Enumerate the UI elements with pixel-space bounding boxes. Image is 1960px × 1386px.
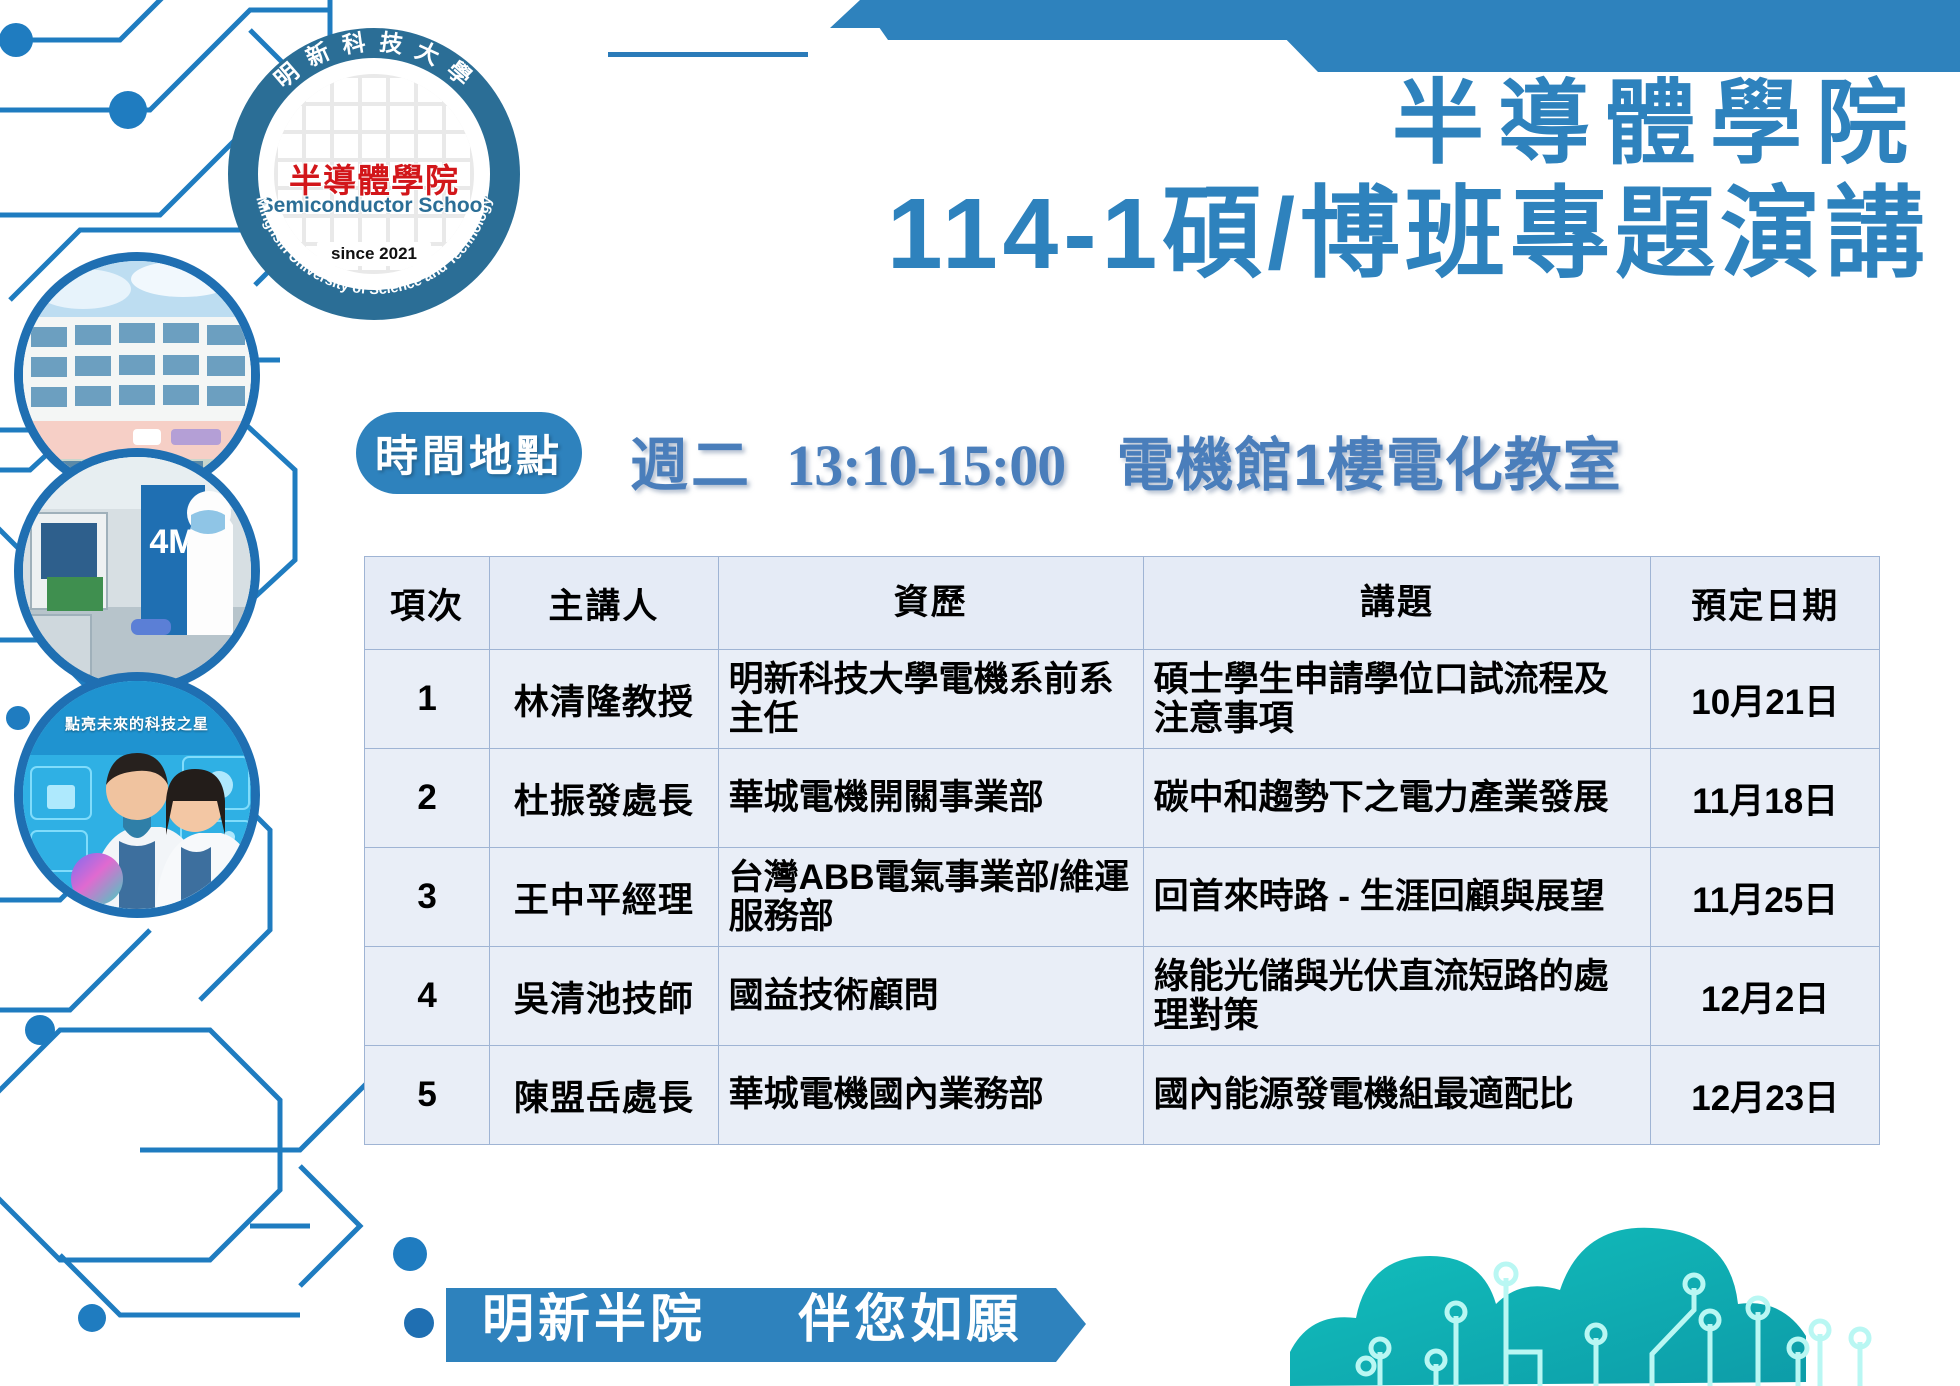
time-location-text: 週二 13:10-15:00 電機館1樓電化教室 bbox=[630, 418, 1622, 502]
cell-topic: 回首來時路 - 生涯回顧與展望 bbox=[1143, 848, 1651, 947]
students-promo-photo: 點亮未來的科技之星 bbox=[14, 672, 260, 918]
logo-arc-top-text: 明 新 科 技 大 學 bbox=[269, 29, 479, 93]
cell-index: 1 bbox=[365, 650, 490, 749]
footer-slogan: 明新半院 伴您如願 bbox=[482, 1277, 1022, 1352]
table-row: 5 陳盟岳處長 華城電機國內業務部 國內能源發電機組最適配比 12月23日 bbox=[365, 1046, 1880, 1145]
cell-date: 11月18日 bbox=[1651, 749, 1880, 848]
logo-arc-text: 明 新 科 技 大 學 Minghsin University of Scien… bbox=[228, 28, 520, 320]
cell-index: 2 bbox=[365, 749, 490, 848]
cleanroom-illustration: 4M bbox=[23, 457, 253, 687]
table-row: 1 林清隆教授 明新科技大學電機系前系主任 碩士學生申請學位口試流程及注意事項 … bbox=[365, 650, 1880, 749]
page-title-line2: 114-1碩/博班專題演講 bbox=[887, 184, 1930, 284]
cell-topic: 碳中和趨勢下之電力產業發展 bbox=[1143, 749, 1651, 848]
cleanroom-lab-image: 4M bbox=[23, 457, 251, 685]
cell-topic: 碩士學生申請學位口試流程及注意事項 bbox=[1143, 650, 1651, 749]
cell-date: 12月2日 bbox=[1651, 947, 1880, 1046]
col-header-speaker: 主講人 bbox=[490, 557, 719, 650]
table-row: 3 王中平經理 台灣ABB電氣事業部/維運服務部 回首來時路 - 生涯回顧與展望… bbox=[365, 848, 1880, 947]
schedule-day: 週二 bbox=[630, 433, 752, 498]
col-header-topic: 講題 bbox=[1143, 557, 1651, 650]
cell-speaker: 杜振發處長 bbox=[490, 749, 719, 848]
schedule-time: 13:10-15:00 bbox=[786, 433, 1065, 498]
school-logo: 半導體學院 Semiconductor School since 2021 明 … bbox=[228, 28, 520, 320]
table-row: 2 杜振發處長 華城電機開關事業部 碳中和趨勢下之電力產業發展 11月18日 bbox=[365, 749, 1880, 848]
cell-topic: 國內能源發電機組最適配比 bbox=[1143, 1046, 1651, 1145]
tech-cloud-decoration bbox=[1260, 1156, 1960, 1386]
logo-arc-bottom-text: Minghsin University of Science and Techn… bbox=[252, 195, 495, 298]
cell-speaker: 王中平經理 bbox=[490, 848, 719, 947]
cell-date: 12月23日 bbox=[1651, 1046, 1880, 1145]
col-header-bio: 資歷 bbox=[718, 557, 1143, 650]
cell-bio: 台灣ABB電氣事業部/維運服務部 bbox=[718, 848, 1143, 947]
cell-bio: 國益技術顧問 bbox=[718, 947, 1143, 1046]
footer-decoration-dot bbox=[404, 1308, 434, 1338]
cell-topic: 綠能光儲與光伏直流短路的處理對策 bbox=[1143, 947, 1651, 1046]
cleanroom-lab-photo: 4M bbox=[14, 448, 260, 694]
cell-speaker: 陳盟岳處長 bbox=[490, 1046, 719, 1145]
table-body: 1 林清隆教授 明新科技大學電機系前系主任 碩士學生申請學位口試流程及注意事項 … bbox=[365, 650, 1880, 1145]
col-header-date: 預定日期 bbox=[1651, 557, 1880, 650]
footer-slogan-left: 明新半院 bbox=[482, 1291, 706, 1349]
cell-bio: 華城電機國內業務部 bbox=[718, 1046, 1143, 1145]
footer-slogan-right: 伴您如願 bbox=[798, 1291, 1022, 1349]
cell-date: 11月25日 bbox=[1651, 848, 1880, 947]
lecture-schedule-table: 項次 主講人 資歷 講題 預定日期 1 林清隆教授 明新科技大學電機系前系主任 … bbox=[364, 556, 1880, 1145]
cell-speaker: 林清隆教授 bbox=[490, 650, 719, 749]
cell-index: 5 bbox=[365, 1046, 490, 1145]
cell-bio: 華城電機開關事業部 bbox=[718, 749, 1143, 848]
cell-date: 10月21日 bbox=[1651, 650, 1880, 749]
cell-speaker: 吳清池技師 bbox=[490, 947, 719, 1046]
col-header-index: 項次 bbox=[365, 557, 490, 650]
table-header-row: 項次 主講人 資歷 講題 預定日期 bbox=[365, 557, 1880, 650]
svg-text:明 新 科 技 大 學: 明 新 科 技 大 學 bbox=[269, 29, 479, 93]
cell-index: 3 bbox=[365, 848, 490, 947]
cell-index: 4 bbox=[365, 947, 490, 1046]
title-divider-line bbox=[608, 52, 808, 57]
cell-bio: 明新科技大學電機系前系主任 bbox=[718, 650, 1143, 749]
students-photo-caption: 點亮未來的科技之星 bbox=[23, 713, 251, 734]
table-row: 4 吳清池技師 國益技術顧問 綠能光儲與光伏直流短路的處理對策 12月2日 bbox=[365, 947, 1880, 1046]
schedule-place: 電機館1樓電化教室 bbox=[1117, 433, 1622, 498]
svg-text:Minghsin University of Science: Minghsin University of Science and Techn… bbox=[252, 195, 495, 298]
poster-root: 半導體學院 Semiconductor School since 2021 明 … bbox=[0, 0, 1960, 1386]
page-title-line1: 半導體學院 bbox=[1392, 78, 1922, 170]
time-location-pill: 時間地點 bbox=[356, 412, 582, 494]
